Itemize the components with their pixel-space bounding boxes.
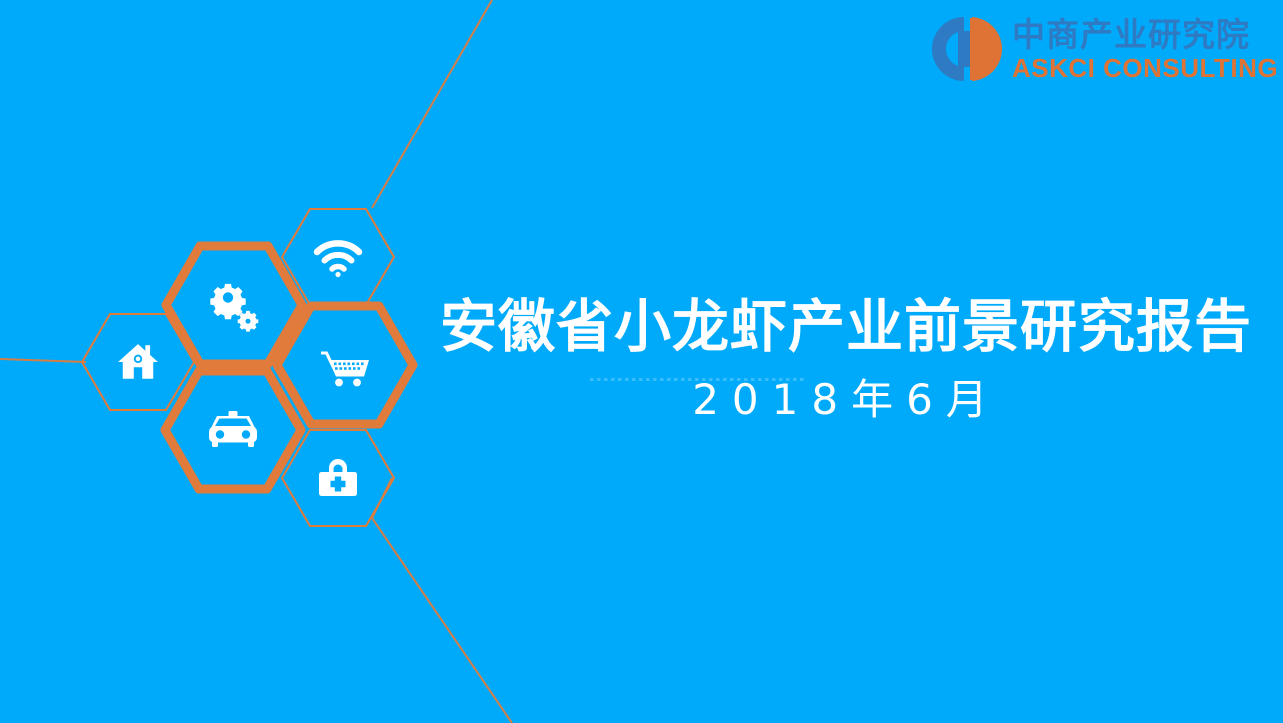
hexagon-medical[interactable] xyxy=(282,430,394,526)
logo-text-block: 中商产业研究院 ASKCI CONSULTING xyxy=(1012,18,1278,81)
home-icon xyxy=(118,344,158,379)
askci-circle-mark xyxy=(928,13,1006,85)
askci-logo: 中商产业研究院 ASKCI CONSULTING xyxy=(928,6,1278,92)
title-decorative-dots xyxy=(590,378,805,381)
title-block: 安徽省小龙虾产业前景研究报告 2018年6月 xyxy=(440,296,1240,423)
page-subtitle-date: 2018年6月 xyxy=(440,377,1240,423)
hexagon-gear[interactable] xyxy=(166,246,302,364)
logo-english-name: ASKCI CONSULTING xyxy=(1012,55,1278,81)
wifi-icon xyxy=(317,243,359,277)
hexagon-car[interactable] xyxy=(165,371,301,489)
hexagon-cluster xyxy=(0,150,470,580)
logo-chinese-name: 中商产业研究院 xyxy=(1012,18,1278,51)
taxi-car-icon xyxy=(209,411,257,447)
shopping-cart-icon xyxy=(321,352,369,387)
hexagon-cluster-svg xyxy=(0,150,470,580)
gears-icon xyxy=(210,284,258,332)
title-slide: 中商产业研究院 ASKCI CONSULTING 安徽省小龙虾产业前景研究报告 … xyxy=(0,0,1283,723)
hexagon-cart[interactable] xyxy=(277,306,413,424)
medical-kit-icon xyxy=(319,459,357,496)
page-title: 安徽省小龙虾产业前景研究报告 xyxy=(440,296,1240,359)
